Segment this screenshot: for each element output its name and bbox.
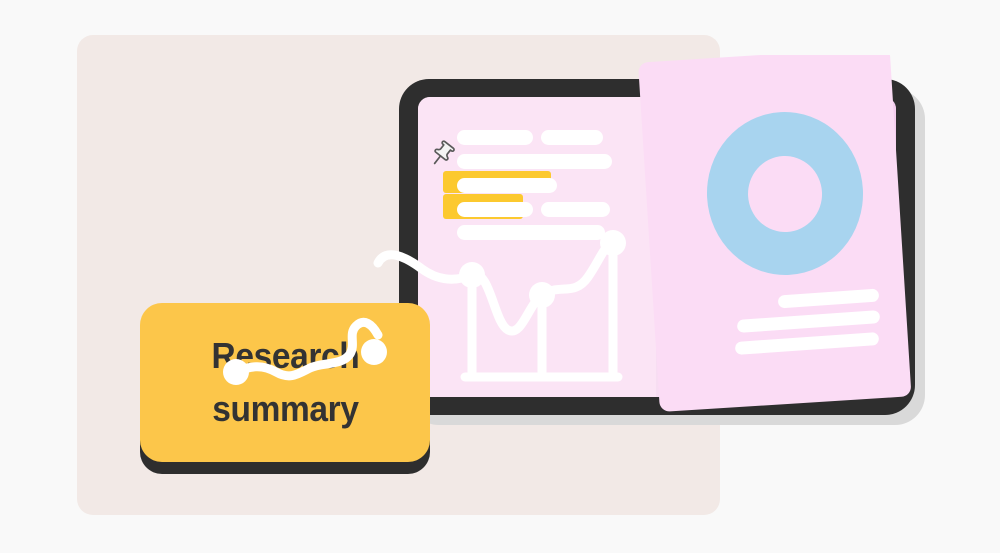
chart-tail-squiggle: [150, 300, 450, 410]
chart-marker-3: [459, 262, 485, 288]
text-bar-3: [457, 154, 612, 169]
chart-tail-line: [236, 322, 378, 376]
text-bar-5: [457, 202, 533, 217]
text-bar-6: [541, 202, 610, 217]
pushpin-icon: [425, 139, 459, 173]
chart-marker-1: [223, 359, 249, 385]
text-bar-1: [457, 130, 533, 145]
text-bar-2: [541, 130, 603, 145]
chart-marker-5: [600, 230, 626, 256]
chart-marker-4: [529, 282, 555, 308]
chart-marker-2: [361, 339, 387, 365]
text-bar-4: [457, 178, 557, 193]
illustration-canvas: Research summary: [0, 0, 1000, 553]
